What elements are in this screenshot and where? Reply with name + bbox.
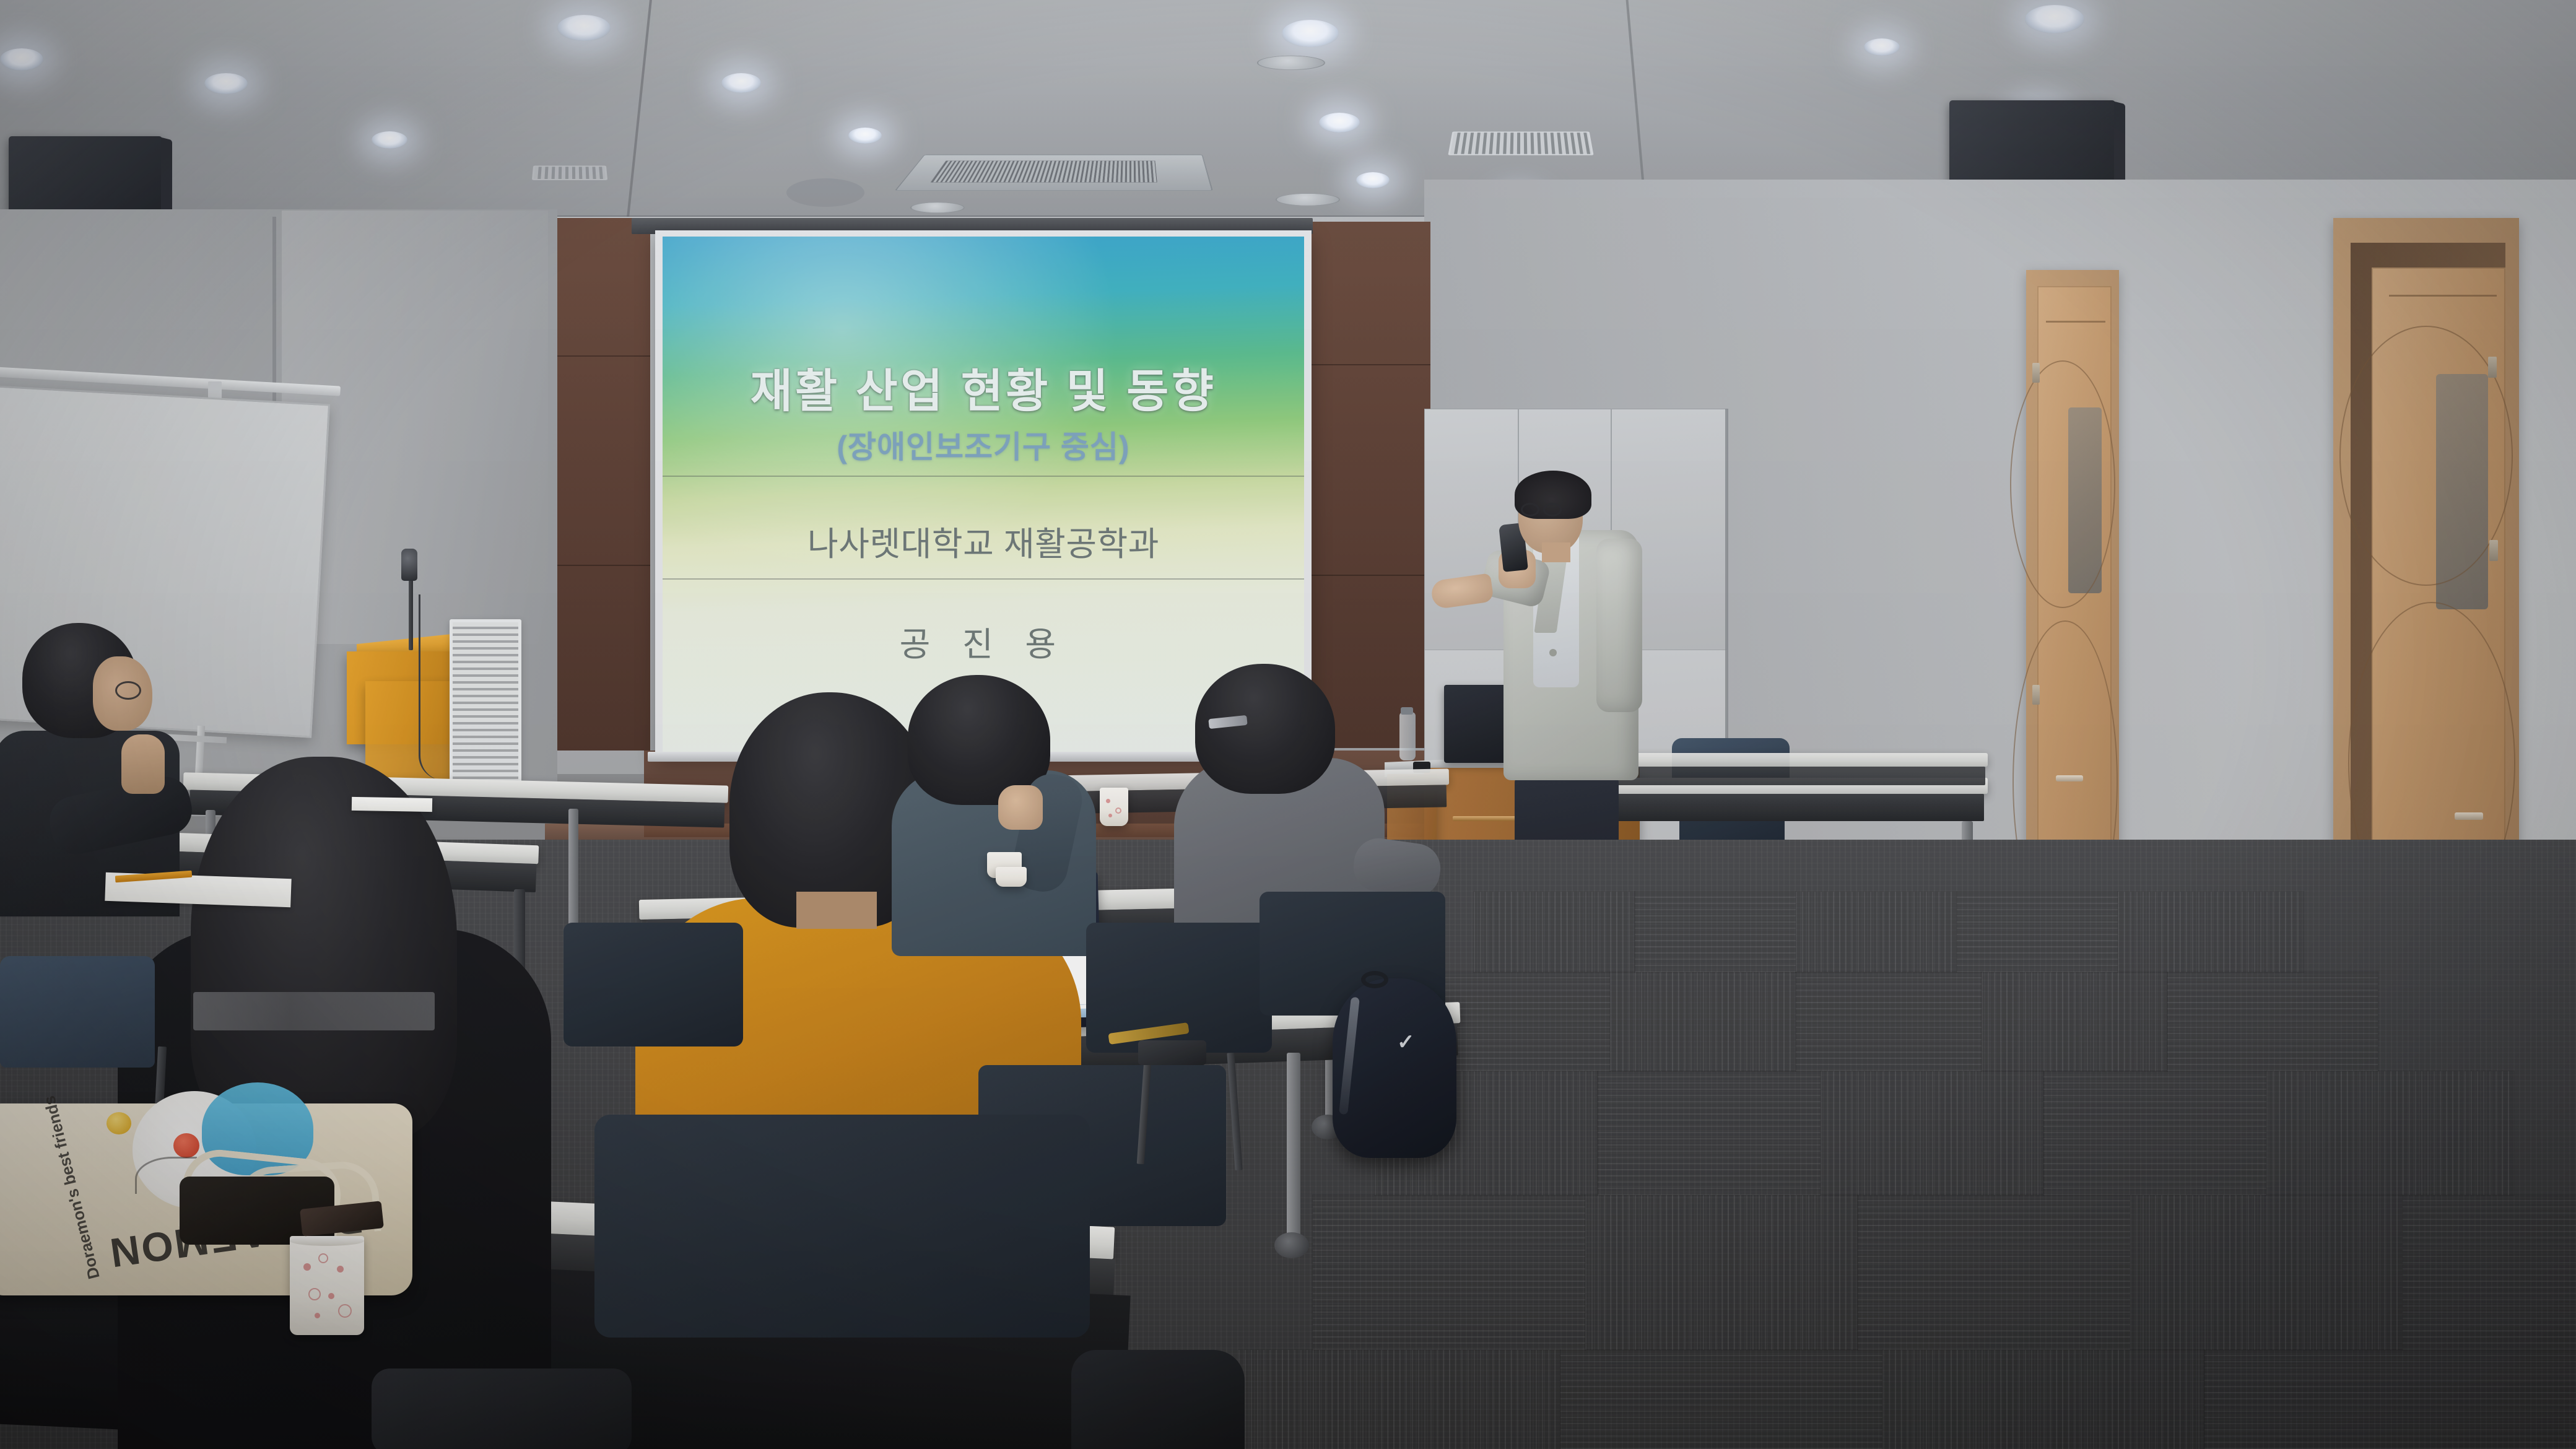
slide-subtitle: (장애인보조기구 중심) — [663, 422, 1304, 467]
slide-divider — [663, 476, 1304, 477]
seminar-table-top — [1579, 753, 1988, 767]
ceiling-downlight — [204, 73, 248, 94]
backpack-strap — [1339, 997, 1360, 1115]
wall-speaker-right — [1949, 100, 2115, 191]
student-front-left-hand — [121, 734, 165, 794]
seminar-table-apron — [1585, 767, 1985, 785]
presenter-glasses — [1543, 503, 1562, 516]
carpet-tile — [2043, 1071, 2266, 1195]
doraemon-bell-icon — [107, 1112, 131, 1134]
carpet-tile — [2167, 972, 2378, 1071]
ceiling-downlight — [1356, 172, 1390, 188]
door-top-line — [2389, 295, 2497, 297]
carpet-tile — [2403, 1195, 2576, 1350]
paper-cup-with-dots[interactable] — [290, 1236, 364, 1335]
ceiling-downlight — [557, 15, 611, 41]
carpet-tile — [1882, 1350, 2204, 1449]
door-arc-detail — [2010, 360, 2115, 608]
student-denim-hand-raised — [998, 785, 1043, 830]
ceiling-air-vent — [532, 166, 607, 180]
chair-back[interactable] — [563, 923, 743, 1046]
desk-accessory-tray[interactable] — [1138, 1040, 1206, 1065]
ceiling-air-vent — [1448, 131, 1593, 155]
carpet-tile — [1474, 892, 1635, 972]
cup-dot — [303, 1263, 311, 1271]
carpet-tile — [2118, 892, 2304, 972]
backpack-loop — [1361, 971, 1388, 988]
podium-microphone — [401, 549, 417, 581]
carpet-tile — [1585, 1195, 1858, 1350]
paper-cup[interactable] — [996, 867, 1027, 887]
bottle-cap — [1401, 707, 1413, 715]
carpet-tile — [1610, 972, 1796, 1071]
slide-title: 재활 산업 현황 및 동향 — [663, 354, 1304, 420]
cup-dot — [1106, 799, 1110, 803]
carpet-tile — [1796, 892, 1957, 972]
door-right-hinge — [2489, 540, 2498, 561]
chair-back[interactable] — [594, 1115, 1090, 1338]
carpet-tile — [2204, 1350, 2576, 1449]
wall-louvre-vent — [450, 619, 521, 805]
seminar-table-apron — [1598, 794, 1984, 821]
cup-dot — [337, 1266, 344, 1273]
wall-speaker-left — [9, 136, 162, 213]
slide-content: 재활 산업 현황 및 동향 (장애인보조기구 중심) 나사렛대학교 재활공학과 … — [663, 237, 1304, 752]
microphone-cable — [419, 594, 447, 780]
slide-organization: 나사렛대학교 재활공학과 — [663, 516, 1304, 565]
bag-under-table[interactable] — [372, 1368, 632, 1449]
student-front-left-glasses — [115, 681, 141, 700]
cup-rim — [290, 1236, 364, 1246]
slide-divider — [663, 578, 1304, 580]
carpet-tile — [1560, 1350, 1882, 1449]
slide-presenter-name: 공 진 용 — [663, 617, 1304, 666]
cup-dot — [328, 1293, 334, 1299]
door-left-hinge — [2032, 685, 2040, 705]
bag-under-table[interactable] — [1071, 1350, 1245, 1449]
cup-dot — [338, 1304, 352, 1318]
tote-tagline-text: Doraemon's best friends — [40, 1094, 104, 1281]
carpet-tile — [1982, 972, 2167, 1071]
presenter-neck — [1542, 542, 1570, 562]
nike-swoosh-icon: ✓ — [1397, 1032, 1415, 1053]
ceiling-downlight — [0, 48, 43, 71]
ceiling-downlight — [2025, 5, 2084, 33]
presenter-glasses — [1521, 503, 1539, 516]
cup-dot — [1108, 814, 1112, 817]
doraemon-nose-icon — [173, 1133, 199, 1158]
carpet-tile — [1957, 892, 2118, 972]
student-long-hair-shirt-print — [193, 992, 435, 1030]
cup-dot — [318, 1253, 328, 1263]
table-leg — [568, 809, 578, 933]
cup-dot — [308, 1288, 321, 1300]
ceiling-downlight — [1282, 20, 1339, 47]
carpet-tile — [1313, 1195, 1585, 1350]
ceiling-downlight — [1864, 38, 1900, 56]
carpet-tile — [1635, 892, 1796, 972]
wall-panel-right — [1307, 222, 1430, 748]
carpet-tile — [1796, 972, 1982, 1071]
water-bottle — [1399, 712, 1416, 760]
door-left-hinge — [2032, 363, 2040, 383]
door-arc-detail — [2339, 326, 2513, 586]
speaker-side — [161, 137, 172, 212]
ceiling-air-conditioner — [895, 155, 1213, 191]
note-paper[interactable] — [352, 797, 432, 812]
ceiling-downlight — [848, 128, 882, 144]
wall-panel-left — [557, 218, 650, 751]
student-mustard-neck — [796, 892, 877, 929]
ceiling-downlight — [372, 131, 407, 149]
carpet-tile — [1858, 1195, 2130, 1350]
presenter-jacket-button — [1549, 649, 1557, 656]
door-right-hinge — [2488, 357, 2497, 378]
chair-back[interactable] — [0, 956, 155, 1068]
ac-vent-slats — [930, 161, 1157, 183]
student-gray-hair — [1195, 664, 1335, 794]
presenter-arm-right — [1596, 539, 1642, 712]
carpet-tile — [1238, 1350, 1560, 1449]
podium-base — [365, 681, 462, 780]
door-top-line — [2046, 321, 2105, 323]
carpet-tile — [2130, 1195, 2403, 1350]
cup-dot — [1115, 807, 1121, 814]
door-left-handle[interactable] — [2056, 775, 2083, 781]
door-right-handle[interactable] — [2455, 812, 2483, 820]
paper-cup[interactable] — [1100, 788, 1128, 826]
carpet-tile — [1821, 1071, 2043, 1195]
nike-backpack[interactable]: ✓ — [1333, 978, 1456, 1158]
carpet-tile — [1598, 1071, 1821, 1195]
ceiling-downlight — [1319, 113, 1360, 133]
downlight-ring — [786, 178, 864, 207]
student-long-hair — [191, 757, 457, 1141]
carpet-tile — [2266, 1071, 2514, 1195]
ceiling-downlight — [721, 73, 761, 93]
speaker-side — [2114, 102, 2125, 189]
table-leg — [1287, 1053, 1300, 1238]
cup-dot — [315, 1313, 320, 1318]
lecture-room-photo: 재활 산업 현황 및 동향 (장애인보조기구 중심) 나사렛대학교 재활공학과 … — [0, 0, 2576, 1449]
table-caster — [1274, 1232, 1309, 1258]
